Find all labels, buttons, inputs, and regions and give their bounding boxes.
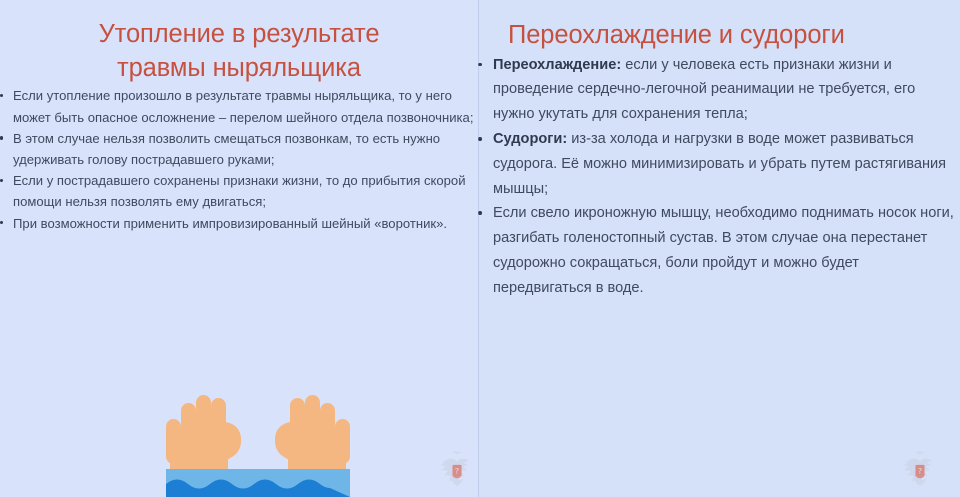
bullet-text: Если свело икроножную мышцу, необходимо … — [493, 205, 954, 295]
list-item: Если свело икроножную мышцу, необходимо … — [478, 201, 960, 300]
bullet-lead: Судороги: — [493, 131, 567, 147]
ministry-of-health-emblem-left: ? — [440, 450, 474, 490]
ministry-of-health-emblem-right: ? — [903, 450, 937, 490]
left-panel-title: Утопление в результате травмы ныряльщика — [0, 0, 478, 85]
left-title-line-1: Утопление в результате — [40, 18, 438, 52]
left-title-line-2: травмы ныряльщика — [40, 52, 438, 86]
left-slide-panel: Утопление в результате травмы ныряльщика… — [0, 0, 478, 497]
left-bullet-list: Если утопление произошло в результате тр… — [0, 85, 478, 233]
panel-divider — [478, 0, 479, 497]
right-bullet-list: Переохлаждение: если у человека есть при… — [478, 53, 960, 301]
list-item: Судороги: из-за холода и нагрузки в воде… — [478, 127, 960, 201]
list-item: В этом случае нельзя позволить смещаться… — [0, 128, 478, 170]
raised-hands-above-water-illustration — [148, 377, 368, 497]
svg-text:?: ? — [455, 466, 459, 475]
list-item: При возможности применить импровизирован… — [0, 213, 478, 234]
list-item: Если утопление произошло в результате тр… — [0, 85, 478, 127]
list-item: Переохлаждение: если у человека есть при… — [478, 53, 960, 127]
right-panel-title: Переохлаждение и судороги — [478, 0, 960, 53]
right-slide-panel: Переохлаждение и судороги Переохлаждение… — [478, 0, 960, 497]
svg-text:?: ? — [918, 466, 922, 475]
slide-pair: Утопление в результате травмы ныряльщика… — [0, 0, 960, 497]
bullet-lead: Переохлаждение: — [493, 57, 621, 73]
list-item: Если у пострадавшего сохранены признаки … — [0, 170, 478, 212]
